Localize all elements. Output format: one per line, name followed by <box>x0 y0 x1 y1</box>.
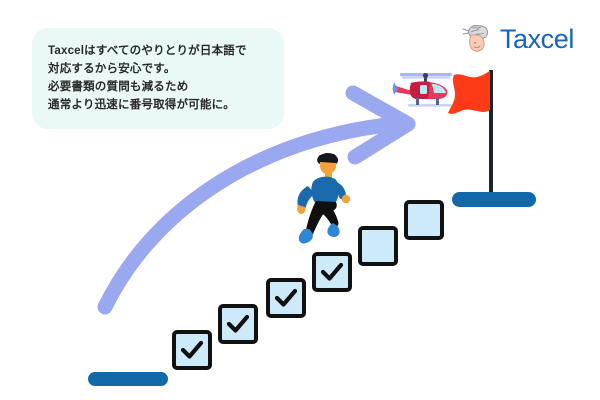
check-icon <box>222 308 254 340</box>
info-bubble-line-1: Taxcelはすべてのやりとりが日本語で <box>48 42 268 60</box>
climbing-person-illustration <box>286 150 360 256</box>
check-icon <box>270 282 302 314</box>
goal-platform <box>452 192 536 207</box>
check-icon <box>316 256 348 288</box>
check-icon <box>176 334 208 366</box>
step-box-4[interactable] <box>312 252 352 292</box>
step-box-5[interactable] <box>358 226 398 266</box>
flag-cloth-icon <box>447 70 493 126</box>
brand-logo[interactable]: Taxcel <box>460 22 574 56</box>
step-box-2[interactable] <box>218 304 258 344</box>
taxcel-head-logo-icon <box>460 22 494 56</box>
info-bubble: Taxcelはすべてのやりとりが日本語で 対応するから安心です。 必要書類の質問… <box>32 28 284 129</box>
info-bubble-line-4: 通常より迅速に番号取得が可能に。 <box>48 96 268 114</box>
step-box-6[interactable] <box>404 200 444 240</box>
step-box-1[interactable] <box>172 330 212 370</box>
step-box-3[interactable] <box>266 278 306 318</box>
illustration-canvas: Taxcelはすべてのやりとりが日本語で 対応するから安心です。 必要書類の質問… <box>0 0 600 400</box>
info-bubble-line-2: 対応するから安心です。 <box>48 60 268 78</box>
info-bubble-line-3: 必要書類の質問も減るため <box>48 78 268 96</box>
start-platform <box>88 372 168 386</box>
brand-name: Taxcel <box>500 26 574 53</box>
